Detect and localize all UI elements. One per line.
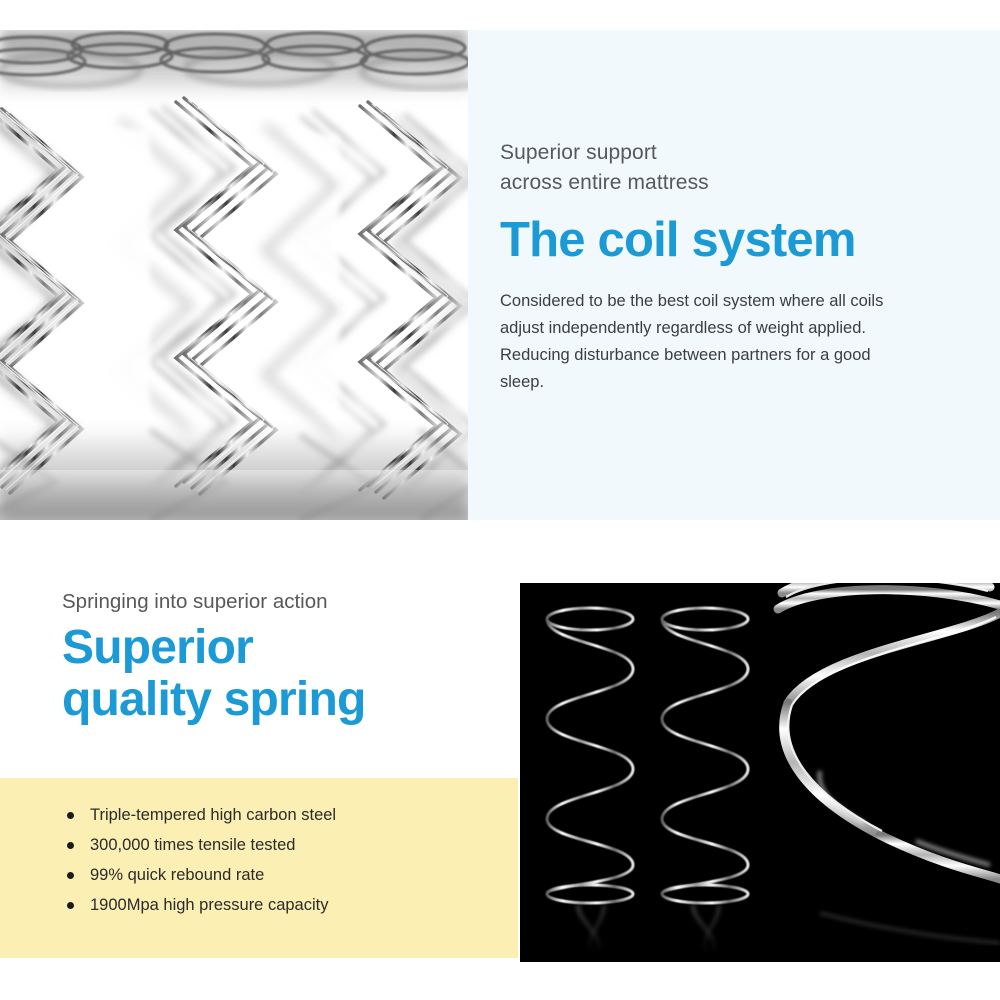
list-item: 99% quick rebound rate — [62, 862, 518, 889]
springs-on-black-background-photo — [520, 583, 1000, 962]
quality-spring-left-column: Springing into superior action Superior … — [0, 560, 518, 962]
top-eyebrow-line2: across entire mattress — [500, 171, 709, 194]
top-eyebrow-line1: Superior support — [500, 141, 657, 164]
bullet-dot-icon — [67, 902, 74, 909]
bottom-headline-line1: Superior — [62, 621, 253, 674]
quality-spring-section: Springing into superior action Superior … — [0, 560, 1000, 962]
list-item: 1900Mpa high pressure capacity — [62, 892, 518, 919]
top-body-paragraph: Considered to be the best coil system wh… — [500, 288, 900, 396]
list-item-label: 300,000 times tensile tested — [90, 836, 295, 854]
coil-spring-closeup-photo — [0, 30, 468, 520]
bottom-headline-line2: quality spring — [62, 673, 366, 726]
product-infographic-page: Superior support across entire mattress … — [0, 0, 1000, 1000]
coil-system-section: Superior support across entire mattress … — [0, 30, 1000, 520]
bullet-dot-icon — [67, 842, 74, 849]
quality-spring-copy-block: Springing into superior action Superior … — [62, 588, 492, 726]
feature-list: Triple-tempered high carbon steel 300,00… — [0, 778, 518, 919]
list-item-label: 1900Mpa high pressure capacity — [90, 896, 328, 914]
bullet-dot-icon — [67, 812, 74, 819]
list-item: 300,000 times tensile tested — [62, 832, 518, 859]
list-item: Triple-tempered high carbon steel — [62, 802, 518, 829]
features-cream-panel: Triple-tempered high carbon steel 300,00… — [0, 778, 518, 958]
list-item-label: Triple-tempered high carbon steel — [90, 806, 336, 824]
coil-system-copy-block: Superior support across entire mattress … — [500, 138, 970, 396]
bottom-eyebrow: Springing into superior action — [62, 588, 492, 616]
bullet-dot-icon — [67, 872, 74, 879]
bottom-headline: Superior quality spring — [62, 622, 492, 726]
top-eyebrow: Superior support across entire mattress — [500, 138, 970, 198]
top-headline: The coil system — [500, 212, 970, 268]
list-item-label: 99% quick rebound rate — [90, 866, 264, 884]
